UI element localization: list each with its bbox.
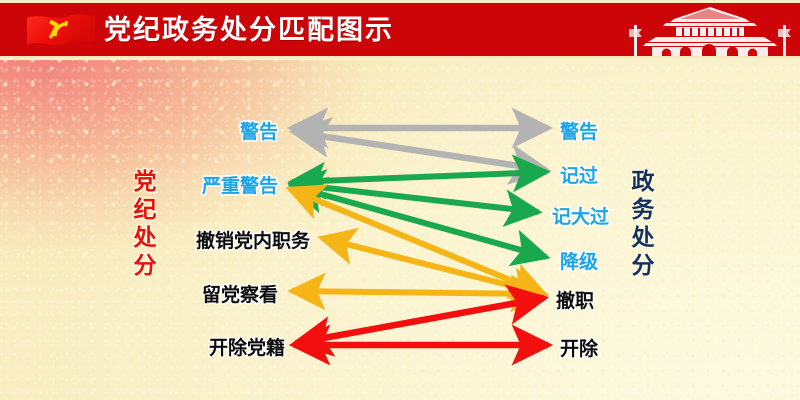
node-left-kaichudangji[interactable]: 开除党籍 bbox=[185, 333, 285, 360]
node-right-jidaguo[interactable]: 记大过 bbox=[552, 202, 609, 229]
arrow-jinggao-jiguo bbox=[294, 132, 546, 170]
left-axis-char-3: 处 bbox=[128, 224, 162, 252]
left-axis-char-2: 纪 bbox=[128, 196, 162, 224]
node-left-chexiaodangneizhiwu[interactable]: 撤销党内职务 bbox=[170, 226, 310, 253]
left-axis-label: 党 纪 处 分 bbox=[128, 168, 162, 280]
left-axis-char-1: 党 bbox=[128, 168, 162, 196]
right-axis-char-3: 处 bbox=[626, 224, 660, 252]
right-axis-label: 政 务 处 分 bbox=[626, 168, 660, 280]
relationship-arrow-canvas bbox=[0, 0, 800, 400]
node-left-jinggao[interactable]: 警告 bbox=[178, 117, 278, 144]
right-axis-char-2: 务 bbox=[626, 196, 660, 224]
node-left-yanzhongjinggao[interactable]: 严重警告 bbox=[158, 171, 278, 198]
arrow-liudangchakan-chezhi bbox=[292, 291, 544, 294]
arrow-yanzhongjinggao-jiguo bbox=[292, 172, 546, 182]
node-right-chezhi[interactable]: 撤职 bbox=[556, 286, 594, 313]
screenshot-root: 党纪政务处分匹配图示 bbox=[0, 0, 800, 400]
right-axis-char-1: 政 bbox=[626, 168, 660, 196]
node-right-jiguo[interactable]: 记过 bbox=[560, 161, 598, 188]
arrow-kaichudangji-chezhi bbox=[296, 298, 544, 343]
node-left-liudangchakan[interactable]: 留党察看 bbox=[178, 280, 278, 307]
node-right-jinggao[interactable]: 警告 bbox=[560, 117, 598, 144]
right-axis-char-4: 分 bbox=[626, 252, 660, 280]
node-right-kaichu[interactable]: 开除 bbox=[560, 334, 598, 361]
left-axis-char-4: 分 bbox=[128, 252, 162, 280]
node-right-jiangji[interactable]: 降级 bbox=[560, 247, 598, 274]
